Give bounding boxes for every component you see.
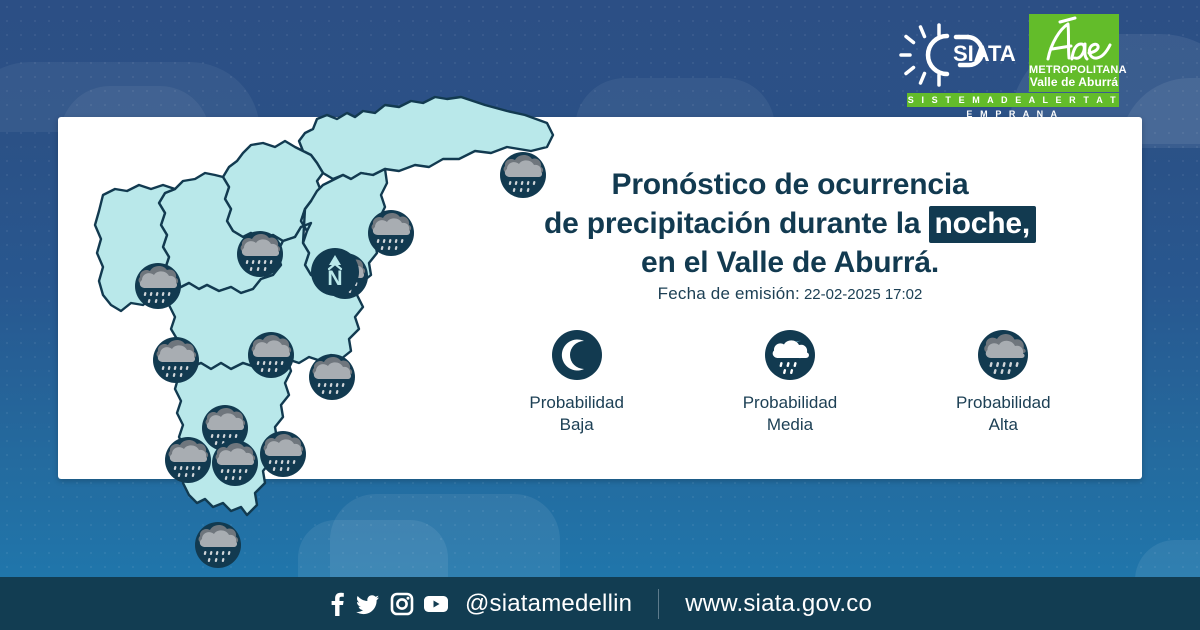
legend-label-baja-line1: Probabilidad [529,392,624,414]
footer-bar: @siatamedellin www.siata.gov.co [0,577,1200,630]
instagram-icon[interactable] [390,592,414,616]
valle-de-aburra-map: N [55,55,555,575]
emission-label: Fecha de emisión: [658,284,800,303]
moon-rain-cloud-icon [765,330,815,380]
headline-line-1: Pronóstico de ocurrencia [470,165,1110,204]
legend-label-baja-line2: Baja [529,414,624,436]
headline-line-2: de precipitación durante la noche, [470,204,1110,243]
headline-line-3: en el Valle de Aburrá. [470,243,1110,282]
legend-item-baja[interactable]: Probabilidad Baja [492,330,662,436]
moon-icon [552,330,602,380]
probability-legend: Probabilidad Baja Probabilidad Media [470,330,1110,445]
svg-text:SIATA: SIATA [953,41,1016,66]
rain-cloud-icon [978,330,1028,380]
north-arrow-icon: N [311,248,359,296]
map-station-marker[interactable] [368,210,414,256]
map-station-marker[interactable] [212,440,258,486]
legend-item-media[interactable]: Probabilidad Media [705,330,875,436]
area-script-mark [1029,16,1119,66]
youtube-icon[interactable] [423,594,449,614]
legend-label-alta: Probabilidad Alta [956,392,1051,436]
legend-item-alta[interactable]: Probabilidad Alta [918,330,1088,436]
map-station-marker[interactable] [237,231,283,277]
legend-label-alta-line2: Alta [956,414,1051,436]
map-station-marker[interactable] [260,431,306,477]
infographic-stage: SIATA METROPOLITANA Valle de Aburrá S I … [0,0,1200,630]
legend-label-baja: Probabilidad Baja [529,392,624,436]
facebook-icon[interactable] [328,591,346,617]
twitter-icon[interactable] [355,591,381,617]
website-url[interactable]: www.siata.gov.co [685,590,872,618]
siata-logo: SIATA [893,20,1023,90]
legend-label-media-line2: Media [743,414,838,436]
compass-label: N [327,267,342,290]
map-station-marker[interactable] [135,263,181,309]
map-svg: N [55,55,555,575]
headline-highlight: noche, [929,206,1036,243]
map-station-marker[interactable] [309,354,355,400]
social-handle[interactable]: @siatamedellin [465,590,632,618]
legend-label-media-line1: Probabilidad [743,392,838,414]
map-station-marker[interactable] [195,522,241,568]
map-station-marker[interactable] [165,437,211,483]
map-station-marker[interactable] [153,337,199,383]
legend-label-media: Probabilidad Media [743,392,838,436]
map-station-marker[interactable] [248,332,294,378]
legend-label-alta-line1: Probabilidad [956,392,1051,414]
area-metropolitana-logo: METROPOLITANA Valle de Aburrá [1029,14,1119,92]
siata-tagline: S I S T E M A D E A L E R T A T E M P R … [907,93,1119,107]
area-logo-line2: Valle de Aburrá [1029,76,1119,89]
page-title: Pronóstico de ocurrencia de precipitació… [470,165,1110,282]
emission-datetime: 22-02-2025 17:02 [804,286,922,303]
emission-date: Fecha de emisión:22-02-2025 17:02 [470,284,1110,304]
headline-line-2-text: de precipitación durante la [544,207,920,240]
footer-divider [658,589,659,619]
social-icons [328,591,449,617]
